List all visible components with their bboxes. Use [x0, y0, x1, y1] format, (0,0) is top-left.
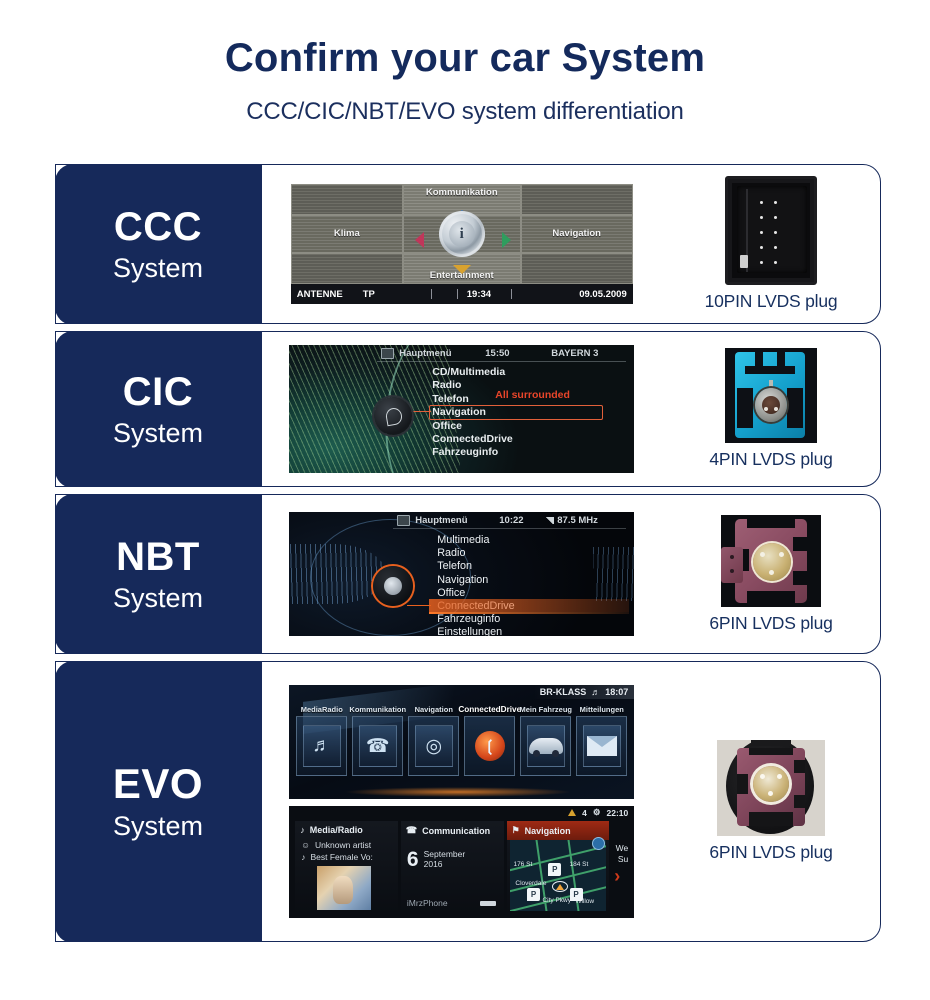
plug-preview-evo: 6PIN LVDS plug [662, 740, 880, 863]
cic-header-station: BAYERN 3 [551, 348, 598, 359]
card-body: Kommunikation Klima Navigation Entertain… [262, 165, 881, 323]
evo-status-bar: BR-KLASS ♬ 18:07 [534, 685, 635, 699]
map-label: 184 St [570, 861, 589, 868]
evo-tile-box: ♬ [296, 716, 347, 776]
nbt-fan-right-decoration [593, 547, 634, 602]
page-title: Confirm your car System [0, 36, 930, 80]
evo-media-artist-row: ☺ Unknown artist [295, 839, 398, 851]
plug-label-ccc: 10PIN LVDS plug [705, 291, 838, 312]
ccc-idrive-screen: Kommunikation Klima Navigation Entertain… [291, 184, 633, 304]
ccc-label-right: Navigation [552, 228, 601, 239]
evo-tile-box [576, 716, 627, 776]
evo-tile-label: Mein Fahrzeug [520, 705, 573, 714]
nbt-header-rule [393, 528, 626, 529]
cic-menu-screen: Hauptmenü 15:50 BAYERN 3 CD/Multimedia R… [289, 345, 634, 473]
nbt-menu-item[interactable]: Fahrzeuginfo [437, 613, 514, 626]
ccc-status-antenne: ANTENNE [297, 289, 343, 300]
evo-media-track: Best Female Vo: [311, 852, 373, 862]
ccc-cell-blank-br [521, 253, 633, 284]
evo-alert-count: 4 [582, 808, 587, 818]
evo-panel-communication[interactable]: ☎ Communication 6 September 2016 [401, 821, 504, 914]
map-label: City Pkwy [542, 897, 571, 904]
system-card-evo[interactable]: EVO System BR-KLASS ♬ 18:07 [55, 661, 881, 942]
system-word-label: System [113, 585, 203, 612]
system-word-label: System [113, 420, 203, 447]
flag-icon: ⚑ [512, 825, 520, 836]
person-icon: ☺ [301, 840, 310, 850]
ccc-tile-navigation: Navigation [521, 215, 633, 253]
evo-tile-label: Kommunikation [349, 705, 406, 714]
evo-tile-box [520, 716, 571, 776]
ccc-arrow-down-icon [453, 265, 471, 274]
ccc-cell-blank-tr [521, 184, 633, 215]
system-word-label: System [113, 255, 203, 282]
evo-panel-title: Communication [422, 826, 490, 836]
ccc-cell-blank-tl [291, 184, 403, 215]
system-badge-cic: CIC System [55, 331, 262, 487]
card-body: BR-KLASS ♬ 18:07 MediaRadio ♬ Kommunikat… [262, 662, 881, 941]
evo-panel-media[interactable]: ♪ Media/Radio ☺ Unknown artist ♪ Best Fe… [295, 821, 398, 914]
ccc-status-divider [457, 289, 458, 299]
system-code-label: EVO [113, 763, 203, 805]
plug-tab [740, 255, 748, 268]
evo-map: 176 St 184 St Cloverdale City Pkwy Willo… [510, 840, 607, 911]
map-pin-icon: P [570, 888, 583, 901]
screen-preview-nbt: Hauptmenü 10:22 87.5 MHz Multimedia Radi… [262, 512, 663, 636]
evo-tile-label: Mitteilungen [580, 705, 624, 714]
page-header: Confirm your car System CCC/CIC/NBT/EVO … [0, 0, 930, 126]
plug-slot [737, 388, 753, 428]
plug-slot [793, 571, 807, 585]
system-badge-nbt: NBT System [55, 494, 262, 654]
system-badge-ccc: CCC System [55, 164, 262, 324]
system-card-nbt[interactable]: NBT System Hauptmenü 10:22 87.5 MHz [55, 494, 881, 654]
plug-slot [747, 519, 795, 528]
plug-10pin-icon [725, 176, 817, 285]
car-icon [527, 725, 565, 767]
ccc-status-divider [511, 289, 512, 299]
battery-icon [480, 901, 496, 906]
system-code-label: CIC [123, 372, 193, 412]
cic-header-rule [377, 361, 626, 362]
ccc-label-top: Kommunikation [426, 187, 498, 198]
connecteddrive-icon: ❲ [472, 726, 508, 766]
evo-tile-label: ConnectedDrive [458, 705, 521, 714]
nbt-signal-icon [545, 517, 554, 524]
plug-contact-ring [753, 766, 789, 802]
plug-slot [737, 774, 748, 794]
plug-slot [794, 760, 805, 773]
plug-slot [777, 352, 785, 366]
evo-date-day: 6 [407, 849, 419, 870]
evo-device-name: iMrzPhone [407, 898, 448, 908]
page-subtitle: CCC/CIC/NBT/EVO system differentiation [0, 98, 930, 126]
evo-tile-box: ❲ [464, 716, 515, 776]
cic-cursor-icon [385, 407, 404, 427]
plug-label-evo: 6PIN LVDS plug [709, 842, 832, 863]
evo-date-row: 6 September 2016 [401, 848, 504, 871]
evo-split-screen: 4 ⚙ 22:10 ♪ Media/Radio ☺ [289, 806, 634, 918]
nbt-header-title: Hauptmenü [415, 515, 467, 526]
nbt-selection-connector [407, 605, 431, 606]
evo-bt-icon: ⚙ [593, 807, 601, 818]
card-body: Hauptmenü 10:22 87.5 MHz Multimedia Radi… [262, 495, 881, 653]
evo-date-month: September [424, 849, 466, 859]
nbt-menu-screen: Hauptmenü 10:22 87.5 MHz Multimedia Radi… [289, 512, 634, 636]
evo-mute-icon: ♬ [591, 687, 600, 697]
plug-6pin-icon [721, 515, 821, 607]
nbt-header-bar: Hauptmenü 10:22 87.5 MHz [289, 512, 634, 529]
system-cards-list: CCC System Kommunikation Klima [55, 164, 881, 949]
plug-slot [749, 748, 793, 755]
plug-contact-ring [753, 543, 791, 581]
plug-slot [749, 812, 793, 826]
cic-menu-item[interactable]: Fahrzeuginfo [432, 446, 513, 459]
system-code-label: NBT [116, 537, 200, 577]
nbt-menu-icon [397, 515, 410, 526]
plug-slot [793, 537, 807, 551]
nbt-menu-item[interactable]: Einstellungen [437, 626, 514, 636]
map-label: Cloverdale [515, 880, 546, 887]
evo-panel-header: ♪ Media/Radio [295, 821, 398, 839]
evo-tile-connecteddrive[interactable]: ConnectedDrive ❲ [464, 705, 516, 776]
screen-preview-evo: BR-KLASS ♬ 18:07 MediaRadio ♬ Kommunikat… [262, 685, 663, 918]
plug-slot [794, 795, 805, 808]
nbt-header-station: 87.5 MHz [557, 515, 598, 526]
chevron-right-icon[interactable]: › [614, 866, 620, 887]
cic-selection-box [429, 405, 603, 420]
plug-preview-ccc: 10PIN LVDS plug [662, 176, 880, 312]
system-badge-evo: EVO System [55, 661, 262, 942]
nbt-selection-highlight [429, 599, 629, 612]
nbt-menu-item[interactable]: Radio [437, 547, 514, 560]
ccc-status-date: 09.05.2009 [579, 289, 627, 300]
evo-tile-navigation[interactable]: Navigation ◎ [408, 705, 460, 776]
map-pin-icon: P [527, 888, 540, 901]
evo-panel-title: Media/Radio [310, 825, 363, 835]
screen-preview-cic: Hauptmenü 15:50 BAYERN 3 CD/Multimedia R… [262, 345, 663, 473]
evo-tile-label: Navigation [415, 705, 453, 714]
plug-slot [755, 352, 763, 366]
evo-tile-row: MediaRadio ♬ Kommunikation ☎ Navigation … [289, 705, 634, 776]
cic-header-bar: Hauptmenü 15:50 BAYERN 3 [289, 345, 634, 362]
cic-selection-connector [409, 411, 431, 412]
evo-media-artist: Unknown artist [315, 840, 371, 850]
system-code-label: CCC [114, 207, 202, 247]
plug-side-block [721, 547, 743, 583]
ccc-arrow-left-icon [415, 232, 424, 248]
evo-tile-kommunikation[interactable]: Kommunikation ☎ [352, 705, 404, 776]
evo-tile-mediaradio[interactable]: MediaRadio ♬ [296, 705, 348, 776]
evo-panel-row: ♪ Media/Radio ☺ Unknown artist ♪ Best Fe… [295, 821, 628, 914]
ccc-status-tp: TP [363, 289, 375, 300]
ccc-arrow-right-icon [502, 232, 511, 248]
system-word-label: System [113, 813, 203, 840]
nbt-header-time: 10:22 [499, 515, 523, 526]
phone-icon: ☎ [359, 725, 397, 767]
evo-media-track-row: ♪ Best Female Vo: [295, 851, 398, 863]
evo-split-status-bar: 4 ⚙ 22:10 [568, 806, 634, 819]
nbt-menu-list: Multimedia Radio Telefon Navigation Offi… [437, 534, 514, 636]
evo-tile-box: ◎ [408, 716, 459, 776]
music-note-icon: ♪ [300, 825, 305, 835]
plug-label-cic: 4PIN LVDS plug [709, 449, 832, 470]
plug-slot [745, 366, 795, 374]
plug-label-nbt: 6PIN LVDS plug [709, 613, 832, 634]
plug-preview-cic: 4PIN LVDS plug [662, 348, 880, 470]
ccc-tile-klima: Klima [291, 215, 403, 253]
evo-screen-stack: BR-KLASS ♬ 18:07 MediaRadio ♬ Kommunikat… [289, 685, 634, 918]
cic-header-title: Hauptmenü [399, 348, 451, 359]
cic-menu-item[interactable]: Office [432, 420, 513, 433]
screen-preview-ccc: Kommunikation Klima Navigation Entertain… [262, 184, 663, 304]
map-pin-icon: P [548, 863, 561, 876]
evo-glow-bar [344, 787, 572, 797]
cic-header-time: 15:50 [485, 348, 509, 359]
ccc-status-divider [431, 289, 432, 299]
plug-slot [787, 388, 803, 428]
map-label: 176 St [513, 861, 532, 868]
nbt-controller-icon [373, 566, 413, 606]
nbt-menu-item[interactable]: Telefon [437, 560, 514, 573]
nbt-menu-item[interactable]: Multimedia [437, 534, 514, 547]
nbt-menu-item[interactable]: Navigation [437, 574, 514, 587]
evo-date-year: 2016 [424, 859, 466, 869]
cic-menu-icon [381, 348, 394, 359]
evo-tile-mein-fahrzeug[interactable]: Mein Fahrzeug [520, 705, 572, 776]
card-body: Hauptmenü 15:50 BAYERN 3 CD/Multimedia R… [262, 332, 881, 486]
evo-panel-header: ☎ Communication [401, 821, 504, 840]
music-note-icon: ♪ [301, 852, 305, 862]
plug-preview-nbt: 6PIN LVDS plug [662, 515, 880, 634]
ccc-center-knob-icon: i [439, 211, 485, 257]
system-card-ccc[interactable]: CCC System Kommunikation Klima [55, 164, 881, 324]
evo-tile-label: MediaRadio [301, 705, 343, 714]
plug-slot [747, 591, 795, 603]
system-card-cic[interactable]: CIC System Hauptmenü 15:50 BAYERN 3 [55, 331, 881, 487]
plug-contact-ring [755, 388, 787, 422]
alert-icon [568, 809, 576, 816]
evo-status-station: BR-KLASS [540, 687, 587, 697]
compass-icon: ◎ [415, 725, 453, 767]
ccc-info-icon: i [449, 221, 475, 247]
plug-6pin-evo-icon [717, 740, 825, 836]
plug-4pin-icon [725, 348, 817, 443]
evo-tile-mitteilungen[interactable]: Mitteilungen [576, 705, 628, 776]
evo-status-time: 18:07 [605, 687, 628, 697]
evo-tile-box: ☎ [352, 716, 403, 776]
evo-split-time: 22:10 [607, 808, 629, 818]
evo-home-screen: BR-KLASS ♬ 18:07 MediaRadio ♬ Kommunikat… [289, 685, 634, 799]
map-vehicle-icon [552, 881, 568, 892]
cic-annotation-label: All surrounded [495, 389, 570, 401]
music-icon: ♬ [303, 725, 341, 767]
cic-controller-icon [374, 397, 412, 435]
envelope-icon [583, 725, 621, 767]
evo-album-art [317, 866, 371, 910]
nbt-selection-underline [429, 612, 629, 614]
evo-panel-navigation[interactable]: ⚑ Navigation 176 St [507, 821, 610, 914]
plug-top-block [751, 740, 791, 746]
ccc-label-left: Klima [334, 228, 360, 239]
ccc-cell-blank-bl [291, 253, 403, 284]
plug-pin-grid [754, 195, 782, 270]
cic-menu-item[interactable]: ConnectedDrive [432, 433, 513, 446]
evo-side-column[interactable]: We Su › [612, 821, 628, 914]
evo-side-text: We Su [616, 843, 629, 865]
evo-panel-title: Navigation [525, 826, 571, 836]
ccc-status-bar: ANTENNE TP 19:34 09.05.2009 [291, 284, 633, 304]
cic-menu-item[interactable]: CD/Multimedia [432, 366, 513, 379]
ccc-status-time: 19:34 [467, 289, 491, 300]
phone-icon: ☎ [406, 825, 417, 836]
